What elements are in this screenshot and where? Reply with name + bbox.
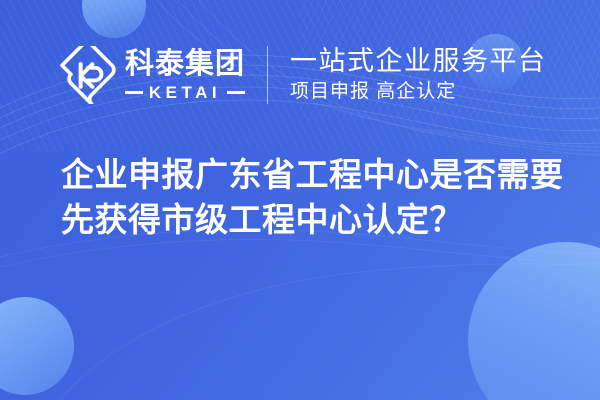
header-divider [267,46,268,104]
brand-dash-left-icon [125,91,143,94]
headline-line-2: 先获得市级工程中心认定？ [61,197,561,242]
circle-bottom-right-icon [468,242,600,400]
promo-banner: 科泰集团 KETAI 一站式企业服务平台 项目申报 高企认定 企业申报广东省工程… [0,0,600,400]
circle-top-left-icon [82,0,146,38]
ketai-diamond-kp-logo-icon [58,46,116,104]
tagline-sub: 项目申报 高企认定 [290,80,547,104]
brand-name-en: KETAI [143,84,227,101]
circle-bottom-left-icon [0,297,74,395]
headline-line-1: 企业申报广东省工程中心是否需要 [61,152,561,197]
tagline-main: 一站式企业服务平台 [290,46,547,76]
brand-dash-right-icon [227,91,245,94]
brand-lockup[interactable]: 科泰集团 KETAI [58,46,245,104]
brand-text: 科泰集团 KETAI [125,50,245,101]
banner-header: 科泰集团 KETAI 一站式企业服务平台 项目申报 高企认定 [0,38,600,112]
brand-name-cn: 科泰集团 [125,50,245,79]
tagline-block: 一站式企业服务平台 项目申报 高企认定 [290,46,547,104]
brand-name-en-row: KETAI [125,84,245,101]
headline-block: 企业申报广东省工程中心是否需要 先获得市级工程中心认定？ [61,152,561,242]
